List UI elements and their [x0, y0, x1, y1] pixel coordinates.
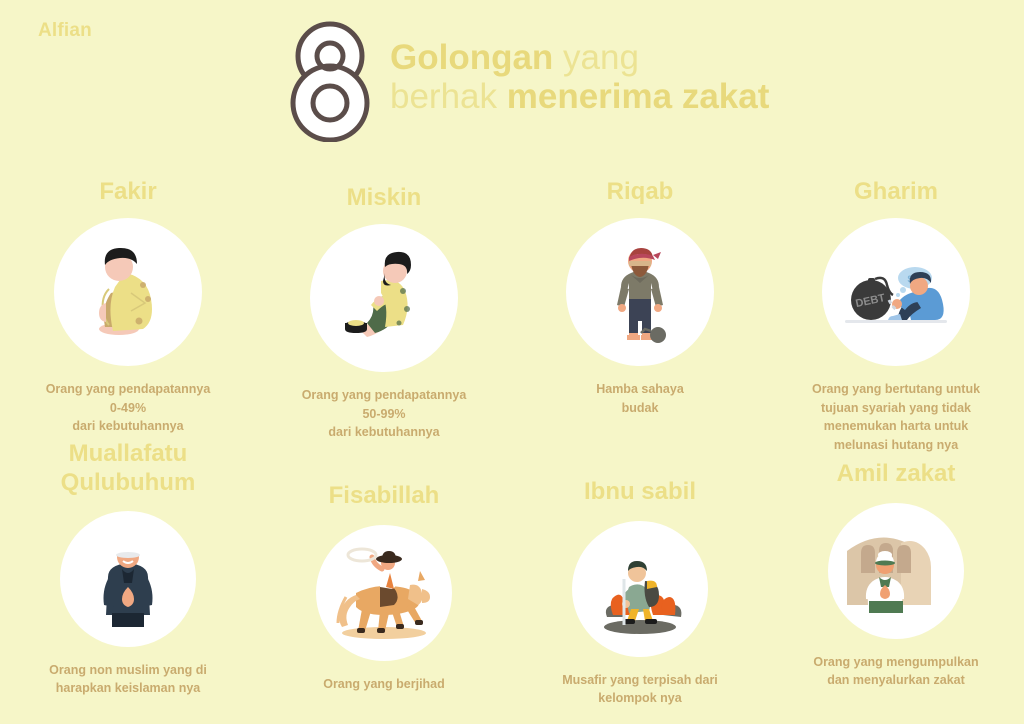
category-caption: Orang yang pendapatannya 50-99% dari keb…: [302, 386, 467, 442]
category-caption: Orang yang berjihad: [323, 675, 445, 694]
horseman-with-lasso-icon: [326, 541, 442, 645]
category-illustration-circle: [572, 521, 708, 657]
category-riqab: Riqab: [512, 160, 768, 454]
category-title: Ibnu sabil: [584, 478, 696, 506]
category-illustration-circle: [828, 503, 964, 639]
zakat-officer-at-mosque-icon: [837, 517, 955, 625]
sitting-person-hugging-knees-icon: [73, 237, 183, 347]
category-illustration-circle: [566, 218, 714, 366]
category-title: Fisabillah: [329, 482, 440, 510]
category-caption: Orang yang pendapatannya 0-49% dari kebu…: [46, 380, 211, 436]
category-caption: Musafir yang terpisah dari kelompok nya: [562, 671, 718, 708]
slave-with-ball-and-chain-icon: [585, 237, 695, 347]
category-title: Miskin: [347, 184, 422, 212]
category-caption: Orang yang mengumpulkan dan menyalurkan …: [813, 653, 978, 690]
category-illustration-circle: [60, 511, 196, 647]
category-illustration-circle: [54, 218, 202, 366]
category-miskin: Miskin Orang yang p: [256, 160, 512, 454]
seated-man-with-begging-bowl-icon: [329, 243, 439, 353]
title-golongan: Golongan: [390, 38, 553, 77]
category-caption: Hamba sahaya budak: [596, 380, 684, 417]
category-grid: Fakir Orang yang pendapatann: [0, 160, 1024, 708]
category-ibnu-sabil: Ibnu sabil: [512, 454, 768, 707]
category-illustration-circle: [316, 525, 452, 661]
category-title: Riqab: [607, 178, 674, 206]
category-title: Muallafatu Qulubuhum: [61, 440, 196, 497]
title-line-1: Golongan yang: [390, 38, 769, 77]
title-line-2: berhak menerima zakat: [390, 77, 769, 116]
title-block: Golongan yang berhak menerima zakat: [390, 38, 769, 116]
category-illustration-circle: [310, 224, 458, 372]
debt-bomb-and-worried-person-icon: $$$ DEBT: [837, 242, 955, 342]
category-caption: Orang non muslim yang di harapkan keisla…: [49, 661, 207, 698]
category-row-2: Muallafatu Qulubuhum Orang non muslim ya…: [0, 454, 1024, 707]
category-muallafatu-qulubuhum: Muallafatu Qulubuhum Orang non muslim ya…: [0, 454, 256, 707]
watermark-alfian: Alfian: [38, 20, 92, 42]
category-gharim: Gharim $$$: [768, 160, 1024, 454]
title-yang: yang: [553, 38, 639, 77]
title-berhak: berhak: [390, 77, 507, 116]
category-title: Fakir: [99, 178, 156, 206]
category-fakir: Fakir Orang yang pendapatann: [0, 160, 256, 454]
category-amil-zakat: Amil zakat: [768, 454, 1024, 707]
category-caption: Orang yang bertutang untuk tujuan syaria…: [812, 380, 980, 454]
big-number-eight: [290, 20, 370, 142]
traveler-with-backpack-icon: [585, 537, 695, 641]
category-title: Amil zakat: [837, 460, 956, 488]
category-row-1: Fakir Orang yang pendapatann: [0, 160, 1024, 454]
category-fisabillah: Fisabillah: [256, 454, 512, 707]
header: Golongan yang berhak menerima zakat: [290, 18, 850, 144]
category-illustration-circle: $$$ DEBT: [822, 218, 970, 366]
title-menerima-zakat: menerima zakat: [507, 77, 770, 116]
praying-man-with-white-cap-icon: [78, 525, 178, 633]
category-title: Gharim: [854, 178, 938, 206]
